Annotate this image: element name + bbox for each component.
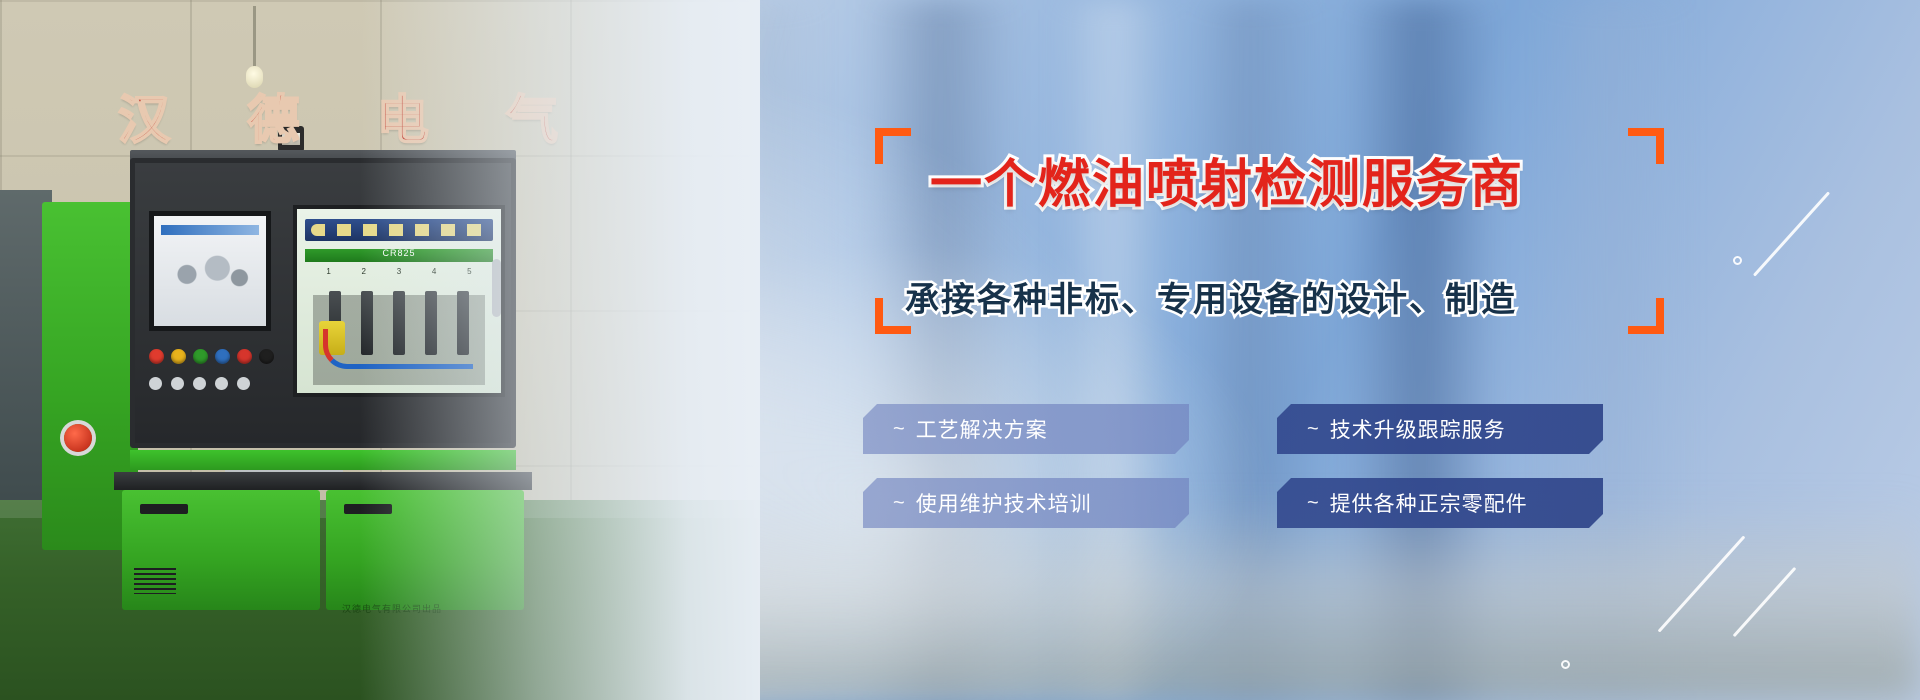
tilde-icon: ~ — [1307, 492, 1320, 515]
tilde-icon: ~ — [1307, 418, 1320, 441]
feature-tag-upgrade-service[interactable]: ~ 技术升级跟踪服务 — [1277, 404, 1603, 454]
tilde-icon: ~ — [893, 418, 906, 441]
feature-tag-spare-parts[interactable]: ~ 提供各种正宗零配件 — [1277, 478, 1603, 528]
feature-tag-row-1: ~ 工艺解决方案 ~ 技术升级跟踪服务 — [863, 404, 1623, 454]
feature-tag-label: 技术升级跟踪服务 — [1330, 414, 1506, 444]
diagonal-line-1 — [1753, 191, 1830, 276]
corner-bracket-top-right — [1628, 128, 1664, 164]
circle-marker-1 — [1733, 256, 1742, 265]
feature-tag-label: 提供各种正宗零配件 — [1330, 488, 1528, 518]
circle-marker-2 — [1561, 660, 1570, 669]
banner-content: 一个燃油喷射检测服务商 承接各种非标、专用设备的设计、制造 ~ 工艺解决方案 ~… — [0, 0, 1920, 700]
banner-subheadline: 承接各种非标、专用设备的设计、制造 — [905, 272, 1517, 321]
feature-tag-row-2: ~ 使用维护技术培训 ~ 提供各种正宗零配件 — [863, 478, 1623, 528]
feature-tag-process-solution[interactable]: ~ 工艺解决方案 — [863, 404, 1189, 454]
corner-bracket-top-left — [875, 128, 911, 164]
banner-headline: 一个燃油喷射检测服务商 — [930, 142, 1524, 217]
corner-bracket-bottom-right — [1628, 298, 1664, 334]
feature-tag-training[interactable]: ~ 使用维护技术培训 — [863, 478, 1189, 528]
hero-banner: 汉 德 电 气 CR825 — [0, 0, 1920, 700]
feature-tag-label: 使用维护技术培训 — [916, 488, 1092, 518]
tilde-icon: ~ — [893, 492, 906, 515]
diagonal-line-2 — [1658, 535, 1746, 632]
feature-tag-group: ~ 工艺解决方案 ~ 技术升级跟踪服务 ~ 使用维护技术培训 ~ 提供各种正宗零… — [863, 404, 1623, 552]
feature-tag-label: 工艺解决方案 — [916, 414, 1048, 444]
diagonal-line-3 — [1733, 567, 1797, 637]
